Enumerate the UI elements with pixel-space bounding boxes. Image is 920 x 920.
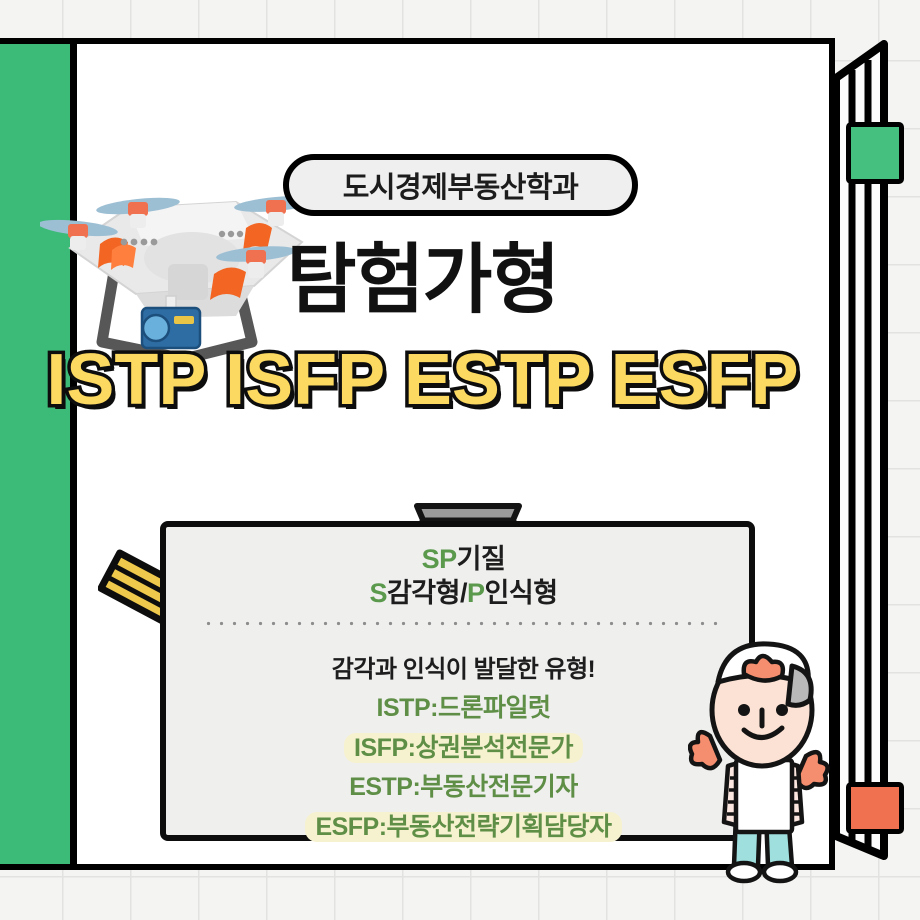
- card-heading-line2: S감각형/P인식형: [166, 577, 761, 611]
- green-bookmark-tab[interactable]: [846, 122, 904, 184]
- job-label: ESFP:부동산전략기획담당자: [305, 812, 621, 842]
- notebook: 도시경제부동산학과 탐험가형 ISTP ISFP ESTP ESFP SP기질: [0, 38, 845, 870]
- p-rest-label: 인식형: [485, 578, 558, 608]
- job-label: ESTP:부동산전문기자: [349, 773, 578, 801]
- department-badge: 도시경제부동산학과: [283, 154, 638, 216]
- page-title: 탐험가형: [0, 243, 845, 319]
- card-subtitle: 감각과 인식이 발달한 유형!: [166, 649, 761, 684]
- list-item: ESTP:부동산전문기자: [166, 770, 761, 806]
- orange-bookmark-tab[interactable]: [846, 782, 904, 834]
- dotted-divider: [202, 621, 724, 626]
- card-heading-line1: SP기질: [166, 543, 761, 577]
- character-mascot-illustration: [688, 638, 838, 893]
- department-badge-label: 도시경제부동산학과: [343, 164, 579, 206]
- info-card: SP기질 S감각형/P인식형 감각과 인식이 발달한 유형! ISTP:드론파일…: [160, 521, 755, 841]
- s-mid-label: 감각형/: [387, 578, 467, 608]
- card-heading: SP기질 S감각형/P인식형: [166, 543, 761, 611]
- s-accent-label: S: [369, 578, 387, 608]
- list-item: ESFP:부동산전략기획담당자: [166, 810, 761, 846]
- list-item: ISTP:드론파일럿: [166, 691, 761, 727]
- p-accent-label: P: [467, 578, 485, 608]
- list-item: ISFP:상권분석전문가: [166, 731, 761, 767]
- job-label: ISTP:드론파일럿: [377, 694, 551, 722]
- sp-accent-label: SP: [422, 544, 457, 574]
- job-label: ISFP:상권분석전문가: [344, 733, 583, 763]
- job-list: ISTP:드론파일럿 ISFP:상권분석전문가 ESTP:부동산전문기자 ESF…: [166, 687, 761, 849]
- sp-rest-label: 기질: [457, 544, 506, 574]
- mbti-types-banner: ISTP ISFP ESTP ESFP: [0, 343, 845, 419]
